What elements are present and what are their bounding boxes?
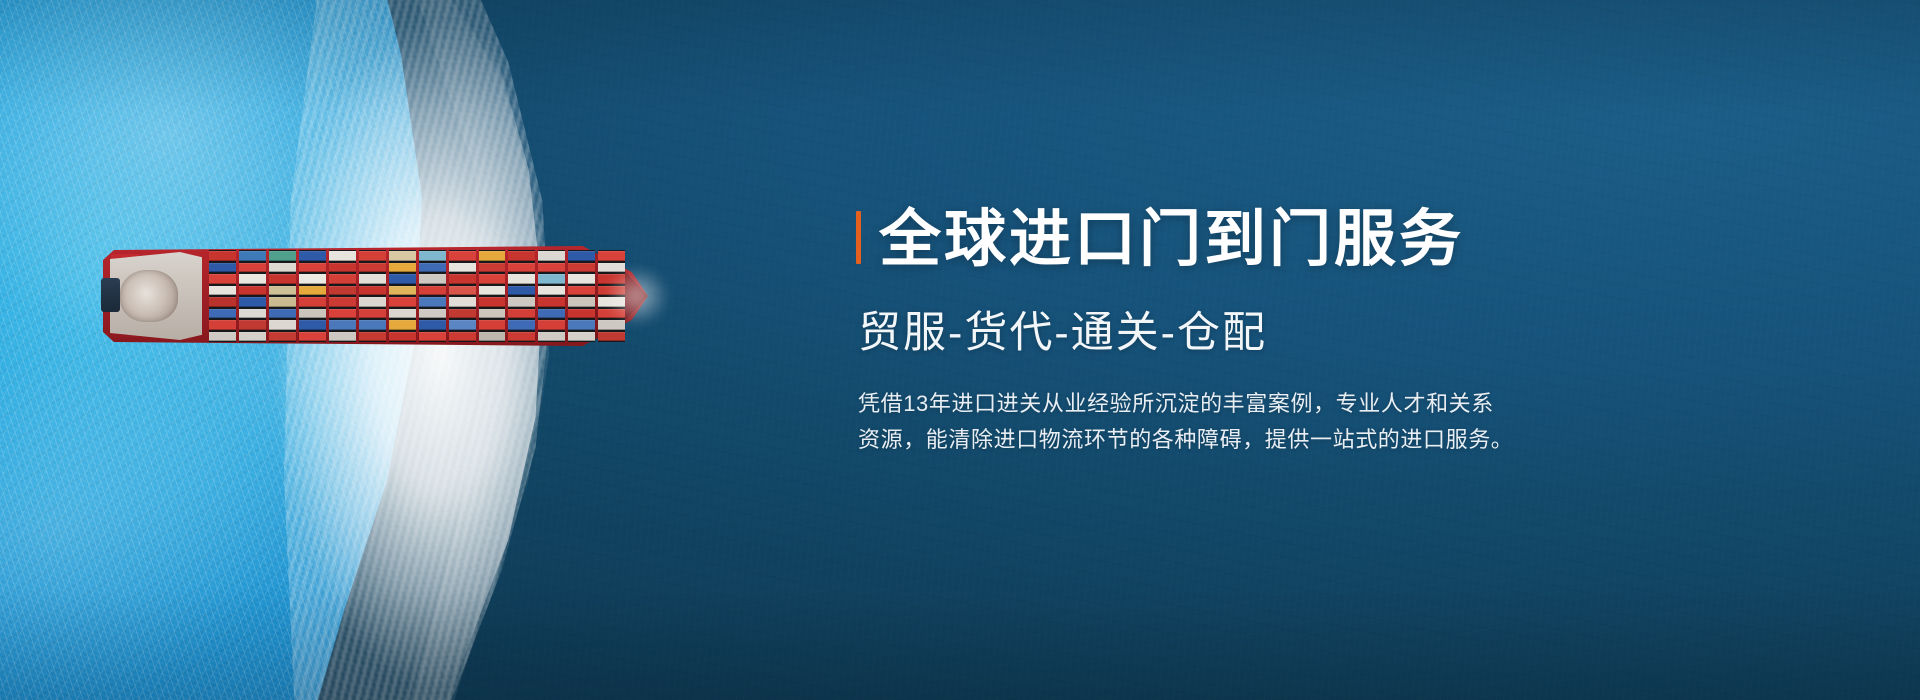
container-tier [449, 286, 476, 296]
service-chain-subtitle: 贸服-货代-通关-仓配 [858, 308, 1776, 360]
container-tier [359, 251, 386, 261]
container-tier [449, 297, 476, 307]
container-tier [239, 263, 266, 273]
container-tier [329, 286, 356, 296]
container-tier [209, 274, 236, 284]
page-title: 全球进口门到门服务 [879, 205, 1464, 274]
container-tier [538, 251, 565, 261]
container-bay [239, 250, 266, 342]
container-tier [239, 286, 266, 296]
container-bay [419, 250, 446, 342]
container-tier [269, 263, 296, 273]
container-tier [479, 263, 506, 273]
container-tier [508, 251, 535, 261]
container-tier [538, 320, 565, 330]
container-tier [538, 297, 565, 307]
container-tier [568, 297, 595, 307]
container-bay [568, 250, 595, 342]
container-bay [209, 250, 236, 342]
container-tier [568, 263, 595, 273]
container-tier [449, 251, 476, 261]
container-tier [389, 286, 416, 296]
container-tier [419, 320, 446, 330]
container-bay [479, 250, 506, 342]
container-tier [419, 274, 446, 284]
container-tier [389, 263, 416, 273]
container-tier [419, 297, 446, 307]
container-tier [329, 251, 356, 261]
container-tier [329, 297, 356, 307]
container-ship [103, 246, 648, 346]
container-tier [419, 309, 446, 319]
container-tier [269, 332, 296, 342]
container-tier [359, 320, 386, 330]
container-tier [508, 297, 535, 307]
container-tier [209, 309, 236, 319]
container-tier [538, 332, 565, 342]
container-tier [359, 297, 386, 307]
container-bay [329, 250, 356, 342]
container-bay [389, 250, 416, 342]
container-tier [389, 309, 416, 319]
container-bays [209, 250, 625, 342]
hero-text-block: 全球进口门到门服务 贸服-货代-通关-仓配 凭借13年进口进关从业经验所沉淀的丰… [856, 205, 1776, 457]
container-tier [508, 320, 535, 330]
container-tier [359, 286, 386, 296]
container-tier [568, 332, 595, 342]
container-tier [449, 320, 476, 330]
container-tier [479, 274, 506, 284]
container-tier [269, 251, 296, 261]
container-tier [239, 251, 266, 261]
container-tier [479, 251, 506, 261]
container-tier [568, 309, 595, 319]
container-tier [508, 274, 535, 284]
container-tier [329, 332, 356, 342]
container-tier [209, 297, 236, 307]
description-line-2: 资源，能清除进口物流环节的各种障碍，提供一站式的进口服务。 [858, 422, 1618, 458]
container-tier [359, 309, 386, 319]
container-tier [239, 320, 266, 330]
container-tier [479, 332, 506, 342]
container-tier [299, 274, 326, 284]
container-tier [269, 297, 296, 307]
container-tier [209, 263, 236, 273]
container-tier [239, 332, 266, 342]
container-tier [389, 320, 416, 330]
container-tier [419, 286, 446, 296]
ship-wake-foam [250, 0, 590, 700]
container-tier [568, 251, 595, 261]
container-bay [359, 250, 386, 342]
container-tier [359, 274, 386, 284]
container-tier [269, 286, 296, 296]
hero-description: 凭借13年进口进关从业经验所沉淀的丰富案例，专业人才和关系 资源，能清除进口物流… [858, 386, 1618, 457]
container-tier [329, 274, 356, 284]
container-tier [389, 274, 416, 284]
ship-stern-equipment [101, 278, 121, 312]
container-tier [209, 286, 236, 296]
container-tier [239, 309, 266, 319]
orange-accent-bar [856, 211, 861, 264]
container-tier [419, 251, 446, 261]
description-line-1: 凭借13年进口进关从业经验所沉淀的丰富案例，专业人才和关系 [858, 386, 1618, 422]
container-tier [329, 263, 356, 273]
container-tier [508, 263, 535, 273]
container-tier [449, 263, 476, 273]
container-tier [209, 320, 236, 330]
container-tier [359, 332, 386, 342]
container-tier [538, 309, 565, 319]
container-bay [269, 250, 296, 342]
container-tier [419, 263, 446, 273]
bow-foam [610, 254, 700, 338]
container-tier [419, 332, 446, 342]
container-tier [209, 251, 236, 261]
container-tier [359, 263, 386, 273]
container-bay [538, 250, 565, 342]
container-tier [269, 309, 296, 319]
container-tier [538, 263, 565, 273]
container-tier [479, 320, 506, 330]
headline-row: 全球进口门到门服务 [856, 205, 1776, 274]
container-tier [269, 274, 296, 284]
container-tier [299, 297, 326, 307]
container-tier [479, 286, 506, 296]
container-tier [299, 332, 326, 342]
container-tier [508, 286, 535, 296]
container-tier [299, 286, 326, 296]
container-tier [269, 320, 296, 330]
container-tier [508, 332, 535, 342]
container-tier [449, 274, 476, 284]
container-tier [299, 320, 326, 330]
container-tier [389, 251, 416, 261]
container-bay [299, 250, 326, 342]
container-tier [538, 274, 565, 284]
container-tier [239, 274, 266, 284]
ship-bridge-roof [120, 270, 177, 322]
container-tier [329, 320, 356, 330]
container-tier [389, 332, 416, 342]
container-tier [479, 297, 506, 307]
container-tier [449, 332, 476, 342]
container-tier [479, 309, 506, 319]
container-tier [568, 286, 595, 296]
container-tier [568, 320, 595, 330]
container-tier [538, 286, 565, 296]
container-tier [209, 332, 236, 342]
container-tier [239, 297, 266, 307]
container-bay [449, 250, 476, 342]
container-tier [299, 251, 326, 261]
container-tier [299, 263, 326, 273]
hero-banner: 全球进口门到门服务 贸服-货代-通关-仓配 凭借13年进口进关从业经验所沉淀的丰… [0, 0, 1920, 700]
container-tier [568, 274, 595, 284]
container-tier [329, 309, 356, 319]
container-bay [508, 250, 535, 342]
container-tier [508, 309, 535, 319]
container-tier [299, 309, 326, 319]
container-tier [449, 309, 476, 319]
container-tier [389, 297, 416, 307]
